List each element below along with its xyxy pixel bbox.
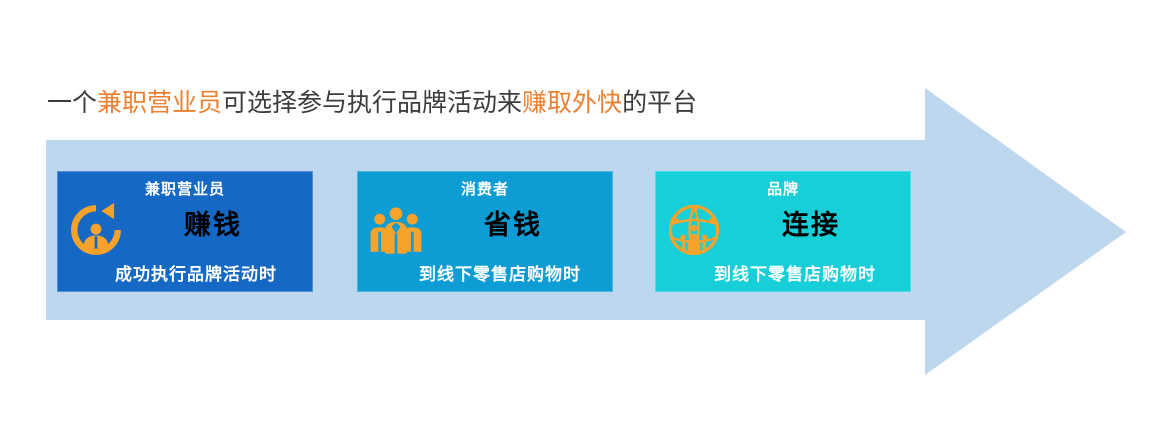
card-main-label: 省钱 (422, 208, 604, 242)
card-footer-label: 到线下零售店购物时 (656, 260, 910, 285)
title-segment-3-highlight: 赚取外快 (522, 89, 622, 117)
title-segment-0: 一个 (47, 89, 97, 117)
person-in-cycle-arrow-icon (67, 201, 125, 259)
title-segment-1-highlight: 兼职营业员 (97, 89, 222, 117)
card-footer-label: 成功执行品牌活动时 (58, 260, 312, 285)
card-brand[interactable]: 品牌 连接 到线下零售店购物时 (655, 171, 911, 292)
card-header-label: 兼职营业员 (58, 178, 312, 199)
three-people-group-icon (367, 201, 425, 259)
card-header-label: 品牌 (656, 178, 910, 199)
card-main-label: 赚钱 (122, 208, 304, 242)
card-consumer[interactable]: 消费者 省钱 到线下零售店购物时 (357, 171, 613, 292)
card-footer-label: 到线下零售店购物时 (358, 260, 612, 285)
slide-canvas: 一个兼职营业员可选择参与执行品牌活动来赚取外快的平台 兼职营业员 赚钱 成功执行… (0, 0, 1150, 430)
card-header-label: 消费者 (358, 178, 612, 199)
globe-network-people-icon (665, 201, 723, 259)
title-segment-2: 可选择参与执行品牌活动来 (222, 89, 522, 117)
card-row: 兼职营业员 赚钱 成功执行品牌活动时 消费者 (57, 171, 907, 292)
page-title: 一个兼职营业员可选择参与执行品牌活动来赚取外快的平台 (47, 86, 697, 120)
title-segment-4: 的平台 (622, 89, 697, 117)
card-main-label: 连接 (720, 208, 902, 242)
card-part-time-clerk[interactable]: 兼职营业员 赚钱 成功执行品牌活动时 (57, 171, 313, 292)
